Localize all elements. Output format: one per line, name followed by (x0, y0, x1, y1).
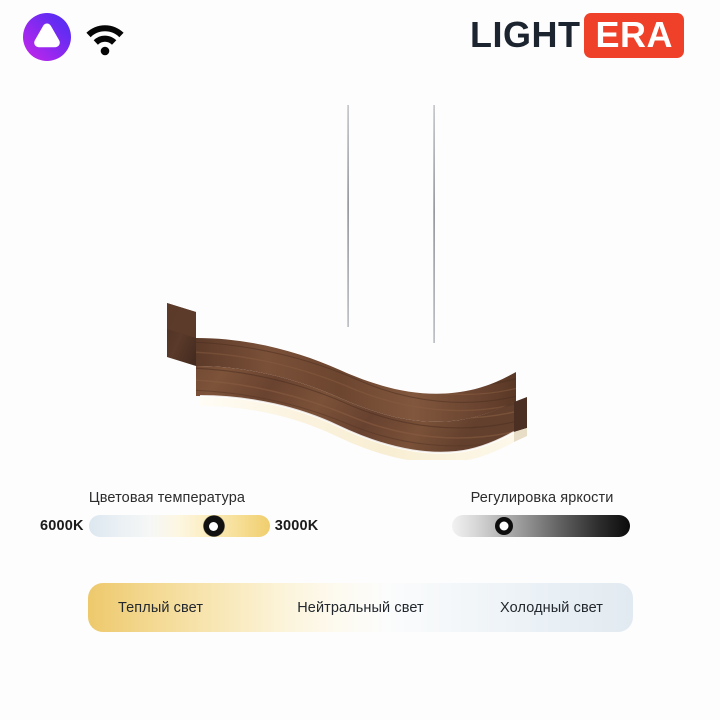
mode-label-warm: Теплый свет (118, 600, 203, 616)
mode-button-warm[interactable]: Теплый свет (88, 583, 280, 632)
brightness-slider-knob[interactable] (495, 517, 513, 535)
product-image (0, 80, 720, 460)
color-temperature-min-label: 6000K (40, 518, 84, 534)
brand-name-era: ERA (595, 17, 673, 53)
lamp-end-cap-right (514, 397, 527, 442)
brightness-slider-row (452, 515, 682, 537)
mode-button-cool[interactable]: Холодный свет (441, 583, 633, 632)
brand-logo: LIGHT ERA (470, 14, 684, 56)
lamp-end-cap-left (167, 303, 196, 366)
brightness-control: Регулировка яркости (452, 490, 682, 537)
color-temperature-max-label: 3000K (275, 518, 319, 534)
suspension-cable-right (433, 105, 434, 343)
brightness-title: Регулировка яркости (452, 490, 632, 506)
mode-label-neutral: Нейтральный свет (297, 600, 424, 616)
wifi-icon (82, 17, 128, 57)
color-temperature-slider-row: 6000K 3000K (40, 515, 340, 537)
color-temperature-slider-knob[interactable] (203, 516, 224, 537)
color-temperature-title: Цветовая температура (46, 490, 288, 506)
brand-name-era-badge: ERA (584, 13, 684, 58)
color-temperature-slider-track[interactable] (89, 515, 270, 537)
header-status-icons (22, 12, 128, 62)
brand-name-light: LIGHT (470, 17, 584, 53)
alice-logo-icon (22, 12, 72, 62)
mode-label-cool: Холодный свет (500, 600, 603, 616)
suspension-cable-left (347, 105, 348, 327)
brightness-slider-track[interactable] (452, 515, 630, 537)
color-temperature-control: Цветовая температура 6000K 3000K (40, 490, 340, 537)
light-mode-selector: Теплый свет Нейтральный свет Холодный св… (88, 583, 633, 632)
app-root: LIGHT ERA (0, 0, 720, 720)
mode-button-neutral[interactable]: Нейтральный свет (280, 583, 442, 632)
